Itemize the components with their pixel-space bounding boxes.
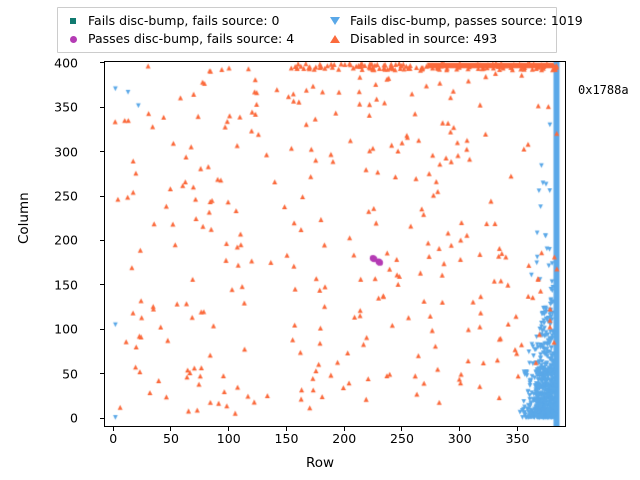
x-tick-mark [286, 427, 287, 431]
y-tick-label: 200 [54, 233, 78, 248]
y-tick-mark [100, 151, 104, 152]
x-tick-label: 200 [332, 431, 356, 446]
y-tick-mark [100, 329, 104, 330]
x-tick-label: 100 [217, 431, 241, 446]
x-tick-mark [113, 427, 114, 431]
matplotlib-figure: Fails disc-bump, fails source: 0 Fails d… [0, 0, 640, 480]
x-axis-label: Row [0, 455, 640, 471]
y-tick-label: 350 [54, 100, 78, 115]
x-tick-label: 350 [506, 431, 530, 446]
y-tick-mark [100, 284, 104, 285]
legend-label-disabled: Disabled in source: 493 [350, 32, 497, 46]
y-tick-label: 300 [54, 144, 78, 159]
y-tick-label: 150 [54, 277, 78, 292]
legend-label-fails-passes: Fails disc-bump, passes source: 1019 [350, 14, 583, 28]
legend-entry-disabled: Disabled in source: 493 [326, 30, 564, 48]
y-tick-mark [100, 240, 104, 241]
circle-marker-icon [64, 32, 82, 46]
address-annotation: 0x1788a [578, 83, 629, 97]
x-tick-mark [228, 427, 229, 431]
x-tick-mark [517, 427, 518, 431]
y-tick-mark [100, 196, 104, 197]
y-axis-label: Column [16, 192, 32, 244]
y-tick-mark [100, 107, 104, 108]
plot-area [104, 61, 566, 427]
triangle-down-marker-icon [326, 14, 344, 28]
legend-entry-fails-passes: Fails disc-bump, passes source: 1019 [326, 12, 564, 30]
y-tick-mark [100, 373, 104, 374]
y-tick-label: 0 [70, 411, 78, 426]
square-marker-icon [64, 14, 82, 28]
x-tick-mark [401, 427, 402, 431]
x-tick-label: 0 [109, 431, 117, 446]
y-tick-label: 100 [54, 322, 78, 337]
triangle-up-marker-icon [326, 32, 344, 46]
x-tick-label: 50 [163, 431, 179, 446]
y-tick-label: 400 [54, 55, 78, 70]
x-tick-mark [170, 427, 171, 431]
legend-entry-passes-fails: Passes disc-bump, fails source: 4 [64, 30, 326, 48]
y-tick-label: 250 [54, 189, 78, 204]
y-tick-mark [100, 418, 104, 419]
x-tick-mark [344, 427, 345, 431]
legend: Fails disc-bump, fails source: 0 Fails d… [57, 7, 557, 53]
x-tick-label: 150 [275, 431, 299, 446]
y-tick-label: 50 [62, 366, 78, 381]
legend-label-passes-fails: Passes disc-bump, fails source: 4 [88, 32, 294, 46]
legend-label-fails-fails: Fails disc-bump, fails source: 0 [88, 14, 280, 28]
x-tick-mark [459, 427, 460, 431]
x-tick-label: 300 [448, 431, 472, 446]
x-tick-label: 250 [390, 431, 414, 446]
scatter-canvas [105, 62, 565, 426]
legend-entry-fails-fails: Fails disc-bump, fails source: 0 [64, 12, 326, 30]
y-tick-mark [100, 62, 104, 63]
